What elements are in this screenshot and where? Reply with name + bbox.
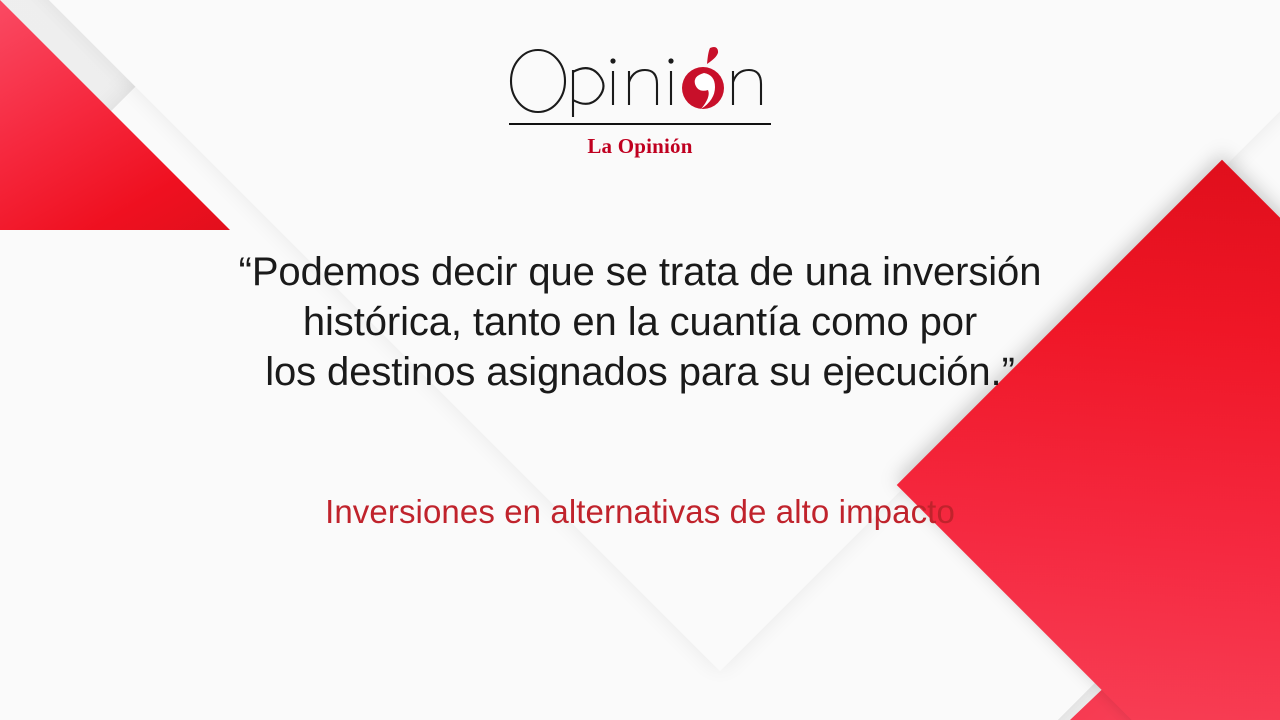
brand-logo: La Opinión <box>490 40 790 159</box>
quote-slide: La Opinión “Podemos decir que se trata d… <box>0 0 1280 720</box>
opinion-wordmark-icon <box>505 40 775 118</box>
quote-text: “Podemos decir que se trata de una inver… <box>140 247 1140 397</box>
quote-line-1: “Podemos decir que se trata de una inver… <box>140 247 1140 297</box>
quote-line-3: los destinos asignados para su ejecución… <box>140 347 1140 397</box>
slide-content: La Opinión “Podemos decir que se trata d… <box>0 0 1280 720</box>
quote-attribution-caption: Inversiones en alternativas de alto impa… <box>90 493 1190 531</box>
brand-name: La Opinión <box>587 134 692 159</box>
logo-divider-rule <box>509 123 771 125</box>
quote-line-2: histórica, tanto en la cuantía como por <box>140 297 1140 347</box>
